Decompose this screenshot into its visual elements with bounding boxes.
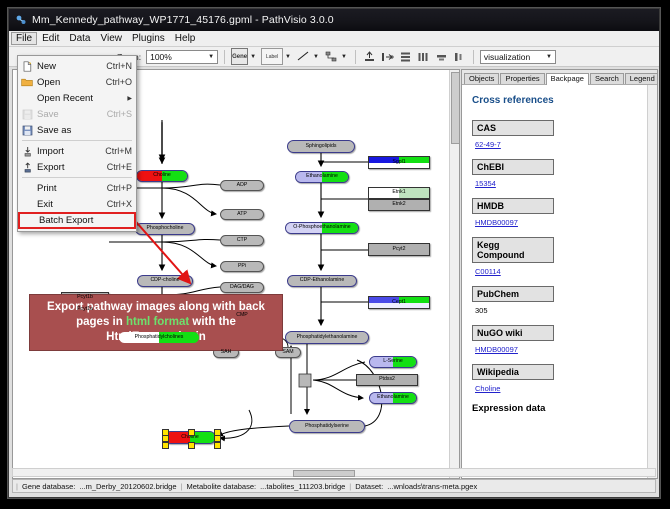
node-label: Choline — [153, 173, 171, 178]
menu-file[interactable]: File — [11, 32, 37, 45]
export-icon — [20, 161, 34, 174]
submenu-chevron-icon: ▶ — [127, 95, 132, 102]
file-menu-accelerator: Ctrl+O — [106, 77, 132, 87]
dataset-value: ...wnloads\trans-meta.pgex — [387, 482, 477, 491]
canvas-vertical-scrollbar[interactable] — [449, 70, 459, 478]
gene-label: Etnk2 — [392, 202, 405, 207]
zoom-value: 100% — [150, 52, 172, 62]
metabolite-database-value: ...tabolites_111203.bridge — [260, 482, 345, 491]
tab-backpage[interactable]: Backpage — [546, 73, 589, 85]
gene-database-value: ...m_Derby_20120602.bridge — [79, 482, 176, 491]
file-menu-label: Open — [34, 77, 106, 88]
node-label: CDP-choline — [150, 278, 179, 283]
xref-link[interactable]: C00114 — [475, 267, 501, 276]
status-sep-2: | — [349, 482, 351, 491]
xref-link[interactable]: 62-49-7 — [475, 140, 501, 149]
xref-link[interactable]: Choline — [475, 384, 500, 393]
import-icon — [20, 145, 34, 158]
label-dropdown-icon[interactable]: ▼ — [285, 54, 291, 60]
side-panel-scrollbar[interactable] — [647, 85, 657, 478]
no-icon — [20, 182, 34, 195]
gene-node-etnk2[interactable]: Etnk2 — [368, 199, 430, 211]
folder-icon — [20, 76, 34, 89]
banner-line2-b: with the — [189, 316, 236, 328]
interaction-icon[interactable] — [324, 49, 339, 64]
zoom-combo[interactable]: 100% ▼ — [146, 50, 218, 64]
file-menu-accelerator: Ctrl+X — [107, 199, 132, 209]
same-width-icon[interactable] — [434, 49, 449, 64]
pathway-node-phosphocholine[interactable]: Phosphocholine — [135, 223, 195, 235]
selection-handle-7[interactable] — [214, 442, 221, 449]
window-horizontal-scrollbar[interactable] — [12, 468, 656, 477]
cross-references-heading: Cross references — [472, 95, 648, 106]
menu-data[interactable]: Data — [64, 32, 95, 45]
align-left-icon[interactable] — [380, 49, 395, 64]
gene-label: Etnk1 — [392, 190, 405, 195]
file-menu-label: Open Recent — [34, 93, 127, 104]
gene-node-sgpl1[interactable]: Sgpl1 — [368, 156, 430, 169]
pathway-node-cdp-choline[interactable]: CDP-choline — [137, 275, 193, 287]
file-menu-item-print[interactable]: PrintCtrl+P — [18, 180, 136, 196]
gene-tool-button[interactable]: Gene — [231, 48, 248, 65]
tab-objects[interactable]: Objects — [464, 73, 499, 84]
visualization-value: visualization — [484, 52, 530, 62]
xref-link[interactable]: HMDB00097 — [475, 218, 518, 227]
metabolite-database-label: Metabolite database: — [186, 482, 256, 491]
node-label: Ethanolamine — [306, 174, 338, 179]
pathway-node-choline-top[interactable]: Choline — [136, 170, 188, 182]
xref-name-pubchem: PubChem — [472, 286, 554, 302]
menu-view[interactable]: View — [95, 32, 127, 45]
gene-node-cept1[interactable]: Cept1 — [368, 296, 430, 309]
menu-bar: File Edit Data View Plugins Help — [9, 31, 659, 47]
banner-highlight: html format — [126, 316, 189, 328]
gene-node-etnk1[interactable]: Etnk1 — [368, 187, 430, 199]
xref-name-chebi: ChEBI — [472, 159, 554, 175]
backpage-content: Cross references CAS62-49-7ChEBI15354HMD… — [462, 85, 648, 478]
file-menu-accelerator: Ctrl+P — [107, 183, 132, 193]
file-menu-item-exit[interactable]: ExitCtrl+X — [18, 196, 136, 212]
gene-label: Pcyt1a — [77, 307, 93, 312]
pathway-node-cdp-eth[interactable]: CDP-Ethanolamine — [287, 275, 357, 287]
xref-value-nugo-wiki[interactable]: HMDB00097 — [475, 345, 648, 354]
toolbar-divider — [224, 50, 225, 64]
xref-value-chebi[interactable]: 15354 — [475, 179, 648, 188]
node-label: CMP — [236, 313, 248, 318]
xref-name-kegg-compound: Kegg Compound — [472, 237, 554, 263]
file-menu-item-save: SaveCtrl+S — [18, 106, 136, 122]
interaction-dropdown-icon[interactable]: ▼ — [341, 54, 347, 60]
pathway-node-ctp[interactable]: CTP — [220, 235, 264, 246]
node-label: Phosphocholine — [147, 226, 184, 231]
label-tool-button[interactable]: Label — [261, 48, 283, 65]
banner-line2-a: pages in — [76, 316, 126, 328]
dataset-label: Dataset: — [355, 482, 383, 491]
pathway-node-sphingolipids[interactable]: Sphingolipids — [287, 140, 355, 153]
gene-node-ptdss2[interactable]: Ptdss2 — [356, 374, 418, 386]
pathway-node-ptdcholines[interactable]: Phosphatidylcholines — [118, 331, 200, 344]
file-menu-item-import[interactable]: ImportCtrl+M — [18, 143, 136, 159]
line-icon[interactable] — [296, 49, 311, 64]
pathvisio-icon — [15, 14, 27, 26]
file-menu-dropdown[interactable]: NewCtrl+NOpenCtrl+OOpen Recent▶SaveCtrl+… — [17, 55, 137, 232]
same-height-icon[interactable] — [452, 49, 467, 64]
gene-label: Cept1 — [392, 300, 406, 305]
xref-name-hmdb: HMDB — [472, 198, 554, 214]
file-menu-label: Exit — [34, 199, 107, 210]
xref-link[interactable]: HMDB00097 — [475, 345, 518, 354]
screen-root: Mm_Kennedy_pathway_WP1771_45176.gpml - P… — [0, 0, 670, 509]
file-menu-accelerator: Ctrl+E — [107, 162, 132, 172]
menu-help[interactable]: Help — [170, 32, 201, 45]
xref-link[interactable]: 15354 — [475, 179, 496, 188]
xref-value-kegg-compound[interactable]: C00114 — [475, 267, 648, 276]
no-icon — [20, 198, 34, 211]
gene-dropdown-icon[interactable]: ▼ — [250, 54, 256, 60]
window-hscroll-thumb[interactable] — [293, 470, 355, 477]
window-title: Mm_Kennedy_pathway_WP1771_45176.gpml - P… — [32, 14, 334, 26]
pathway-node-ptdserine[interactable]: Phosphatidylserine — [289, 420, 365, 433]
xref-value-pubchem: 305 — [475, 306, 648, 315]
distribute-vertical-icon[interactable] — [398, 49, 413, 64]
cross-reference-list: CAS62-49-7ChEBI15354HMDBHMDB00097Kegg Co… — [472, 120, 648, 393]
file-menu-item-open-recent[interactable]: Open Recent▶ — [18, 90, 136, 106]
application-window: Mm_Kennedy_pathway_WP1771_45176.gpml - P… — [8, 8, 660, 498]
status-sep-1: | — [181, 482, 183, 491]
node-label: L-Serine — [383, 359, 403, 364]
selection-handle-6[interactable] — [188, 442, 195, 449]
node-label: Sphingolipids — [306, 144, 337, 149]
save-as-icon — [20, 124, 34, 137]
xref-value-wikipedia[interactable]: Choline — [475, 384, 648, 393]
node-label: SAH — [221, 350, 232, 355]
node-label: CTP — [237, 238, 247, 243]
file-menu-label: Print — [34, 183, 107, 194]
xref-name-wikipedia: Wikipedia — [472, 364, 554, 380]
xref-name-nugo-wiki: NuGO wiki — [472, 325, 554, 341]
file-menu-accelerator: Ctrl+M — [105, 146, 132, 156]
xref-name-cas: CAS — [472, 120, 554, 136]
file-menu-separator — [22, 140, 132, 141]
file-menu-accelerator: Ctrl+N — [106, 61, 132, 71]
tab-search[interactable]: Search — [590, 73, 624, 84]
file-menu-label: Batch Export — [36, 215, 130, 226]
file-menu-label: Save as — [34, 125, 132, 136]
toolbar-divider-3 — [473, 50, 474, 64]
toolbar-divider-2 — [355, 50, 356, 64]
file-menu-item-new[interactable]: NewCtrl+N — [18, 58, 136, 74]
node-label: CDP-Ethanolamine — [300, 278, 344, 283]
node-label: O-Phosphoethanolamine — [293, 225, 350, 230]
node-label: Phosphatidylserine — [305, 424, 349, 429]
file-menu-accelerator: Ctrl+S — [107, 109, 132, 119]
xref-value-hmdb[interactable]: HMDB00097 — [475, 218, 648, 227]
file-menu-item-export[interactable]: ExportCtrl+E — [18, 159, 136, 175]
node-label: Choline — [181, 435, 199, 440]
file-menu-separator — [22, 177, 132, 178]
xref-value-cas[interactable]: 62-49-7 — [475, 140, 648, 149]
selection-handle-1[interactable] — [188, 429, 195, 436]
expression-data-heading: Expression data — [472, 403, 648, 414]
status-bar: | Gene database: ...m_Derby_20120602.bri… — [12, 479, 656, 493]
node-label: PPi — [238, 264, 246, 269]
side-panel-tabs: ObjectsPropertiesBackpageSearchLegend — [462, 70, 657, 85]
node-label: DAG/DAG — [230, 285, 254, 290]
pathway-node-ptdeth[interactable]: Phosphatidylethanolamine — [285, 331, 369, 344]
pathway-node-adp[interactable]: ADP — [220, 180, 264, 191]
line-dropdown-icon[interactable]: ▼ — [313, 54, 319, 60]
file-menu-label: Save — [34, 109, 107, 120]
node-label: ADP — [237, 183, 248, 188]
file-menu-item-open[interactable]: OpenCtrl+O — [18, 74, 136, 90]
canvas-scroll-thumb[interactable] — [451, 72, 460, 144]
gene-label: Pcyt2 — [393, 247, 406, 252]
node-label: Phosphatidylethanolamine — [297, 335, 358, 340]
tab-properties[interactable]: Properties — [500, 73, 544, 84]
chevron-down-icon: ▼ — [208, 54, 214, 60]
gene-label: Ptdss2 — [379, 377, 395, 382]
node-label: Ethanolamine — [377, 395, 409, 400]
save-disk-icon — [20, 108, 34, 121]
file-menu-label: Import — [34, 146, 105, 157]
side-panel: ObjectsPropertiesBackpageSearchLegend Cr… — [461, 69, 658, 479]
pathway-node-ethanolamine[interactable]: Ethanolamine — [295, 171, 349, 183]
pathway-node-atp[interactable]: ATP — [220, 209, 264, 220]
node-label: ATP — [237, 212, 247, 217]
gene-database-label: Gene database: — [22, 482, 75, 491]
file-menu-item-batch-export[interactable]: Batch Export — [18, 212, 136, 229]
pathway-node-l-serine[interactable]: L-Serine — [369, 356, 417, 368]
no-icon — [22, 214, 36, 227]
pathway-node-o-phosphoeth[interactable]: O-Phosphoethanolamine — [285, 222, 359, 234]
file-menu-label: Export — [34, 162, 107, 173]
gene-label: Pcyt1b — [77, 295, 93, 300]
selection-handle-5[interactable] — [162, 442, 169, 449]
pathway-node-ppi[interactable]: PPi — [220, 261, 264, 272]
pathway-node-ethanolamine2[interactable]: Ethanolamine — [369, 392, 417, 404]
menu-edit[interactable]: Edit — [37, 32, 64, 45]
no-icon — [20, 92, 34, 105]
node-label: Phosphatidylcholines — [135, 335, 184, 340]
gene-label: Sgpl1 — [392, 160, 405, 165]
distribute-horizontal-icon[interactable] — [416, 49, 431, 64]
file-menu-label: New — [34, 61, 106, 72]
title-bar: Mm_Kennedy_pathway_WP1771_45176.gpml - P… — [9, 9, 659, 31]
align-top-icon[interactable] — [362, 49, 377, 64]
file-menu-item-save-as[interactable]: Save as — [18, 122, 136, 138]
node-label: SAM — [282, 350, 293, 355]
pathway-node-dag[interactable]: DAG/DAG — [220, 282, 264, 293]
chevron-down-icon-2: ▼ — [546, 54, 552, 60]
menu-plugins[interactable]: Plugins — [127, 32, 170, 45]
new-file-icon — [20, 60, 34, 73]
visualization-combo[interactable]: visualization ▼ — [480, 50, 556, 64]
tab-legend[interactable]: Legend — [625, 73, 658, 84]
gene-node-pcyt2[interactable]: Pcyt2 — [368, 243, 430, 256]
status-sep-0: | — [16, 482, 18, 491]
